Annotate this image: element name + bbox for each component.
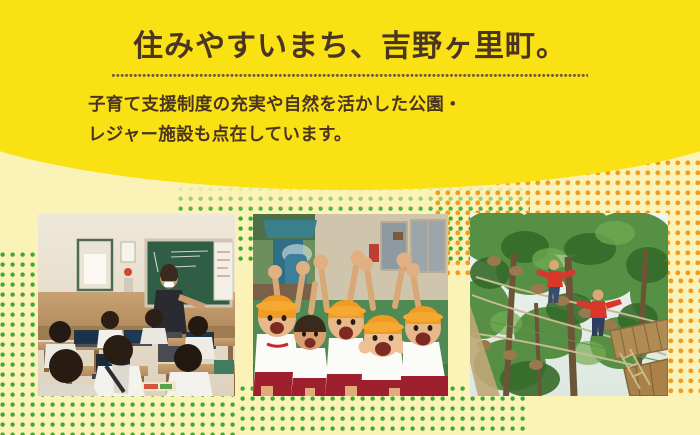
photo-classroom — [38, 214, 235, 396]
page-subtitle: 子育て支援制度の充実や自然を活かした公園・ レジャー施設も点在しています。 — [0, 77, 700, 149]
photo-kindergarten — [253, 214, 448, 396]
photo-adventure-park — [470, 213, 668, 396]
orange-dot-pattern-lower — [668, 278, 700, 398]
child-group — [253, 295, 448, 396]
subtitle-line-2: レジャー施設も点在しています。 — [88, 119, 700, 149]
page-title: 住みやすいまち、吉野ヶ里町。 — [0, 0, 700, 62]
kindergarten-children-illustration — [253, 214, 448, 396]
subtitle-line-1: 子育て支援制度の充実や自然を活かした公園・ — [88, 89, 700, 119]
promo-banner-card: 住みやすいまち、吉野ヶ里町。 子育て支援制度の充実や自然を活かした公園・ レジャ… — [0, 0, 700, 435]
classroom-illustration — [38, 214, 235, 396]
header-text-block: 住みやすいまち、吉野ヶ里町。 子育て支援制度の充実や自然を活かした公園・ レジャ… — [0, 0, 700, 149]
adventure-park-illustration — [470, 213, 668, 396]
